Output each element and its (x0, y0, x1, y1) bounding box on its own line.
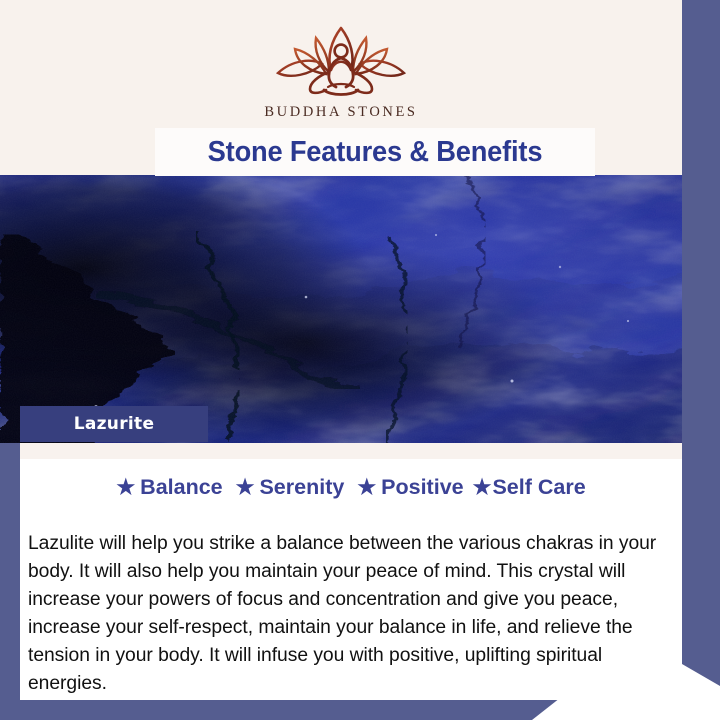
title-card: Stone Features & Benefits (155, 128, 595, 176)
brand-name: BUDDHA STONES (264, 104, 417, 121)
star-icon: ★ (357, 477, 376, 498)
page-title: Stone Features & Benefits (208, 136, 543, 169)
stone-description: Lazulite will help you strike a balance … (28, 529, 672, 697)
benefit-label: Positive (381, 475, 463, 500)
stone-name-badge: Lazurite (20, 406, 208, 442)
benefit-label: Serenity (259, 475, 344, 500)
benefit-item-balance: ★Balance (116, 475, 222, 500)
lazurite-stone-photo (0, 175, 682, 443)
star-icon: ★ (473, 477, 492, 498)
right-accent-band (682, 0, 720, 686)
stone-info-card: BUDDHA STONES Stone Features & Benefits (0, 0, 720, 720)
content-top-strip (20, 443, 682, 459)
benefit-item-serenity: ★Serenity (236, 475, 345, 500)
benefit-label: Balance (140, 475, 222, 500)
benefit-item-positive: ★Positive (357, 475, 463, 500)
star-icon: ★ (116, 477, 135, 498)
brand-logo: BUDDHA STONES (0, 24, 682, 121)
stone-name-label: Lazurite (74, 414, 155, 434)
content-panel: ★Balance ★Serenity ★Positive ★Self Care … (20, 459, 682, 700)
bottom-accent-band (0, 698, 720, 720)
benefits-list: ★Balance ★Serenity ★Positive ★Self Care (20, 475, 682, 500)
benefit-item-self-care: ★Self Care (473, 475, 586, 500)
lotus-meditation-icon (266, 24, 416, 98)
benefit-label: Self Care (492, 475, 585, 500)
left-accent-band (0, 438, 20, 720)
star-icon: ★ (236, 477, 255, 498)
